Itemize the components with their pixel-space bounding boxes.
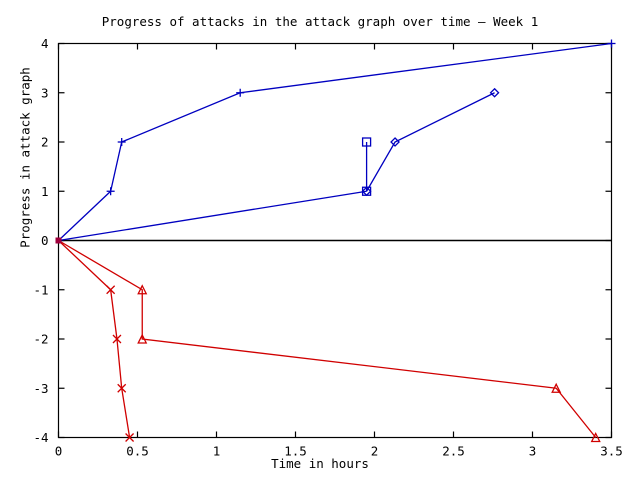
y-tick-label: -2 (33, 332, 48, 347)
y-tick-label: 1 (41, 184, 49, 199)
series-line-blue-long-ramp-series (59, 191, 367, 240)
series-line-red-triangle-series (59, 241, 596, 438)
data-point-marker (608, 40, 616, 48)
y-axis-label: Progress in attack graph (18, 38, 33, 278)
x-axis-label: Time in hours (0, 456, 640, 471)
y-tick-label: -1 (33, 282, 48, 297)
y-tick-label: -4 (33, 430, 48, 445)
data-point-marker (236, 89, 244, 97)
y-tick-label: 2 (41, 135, 49, 150)
origin-point (56, 238, 62, 244)
chart-root: Progress of attacks in the attack graph … (0, 0, 640, 480)
series-line-blue-diamond-series (367, 93, 495, 192)
data-point-marker (118, 138, 126, 146)
y-tick-label: 0 (41, 233, 49, 248)
plot-canvas: -4-3-2-10123400.511.522.533.5 (0, 0, 640, 480)
series-line-blue-plus-series (59, 44, 612, 241)
y-tick-label: 4 (41, 36, 49, 51)
y-tick-label: -3 (33, 381, 48, 396)
series-line-red-cross-series (59, 241, 130, 438)
y-tick-label: 3 (41, 85, 49, 100)
